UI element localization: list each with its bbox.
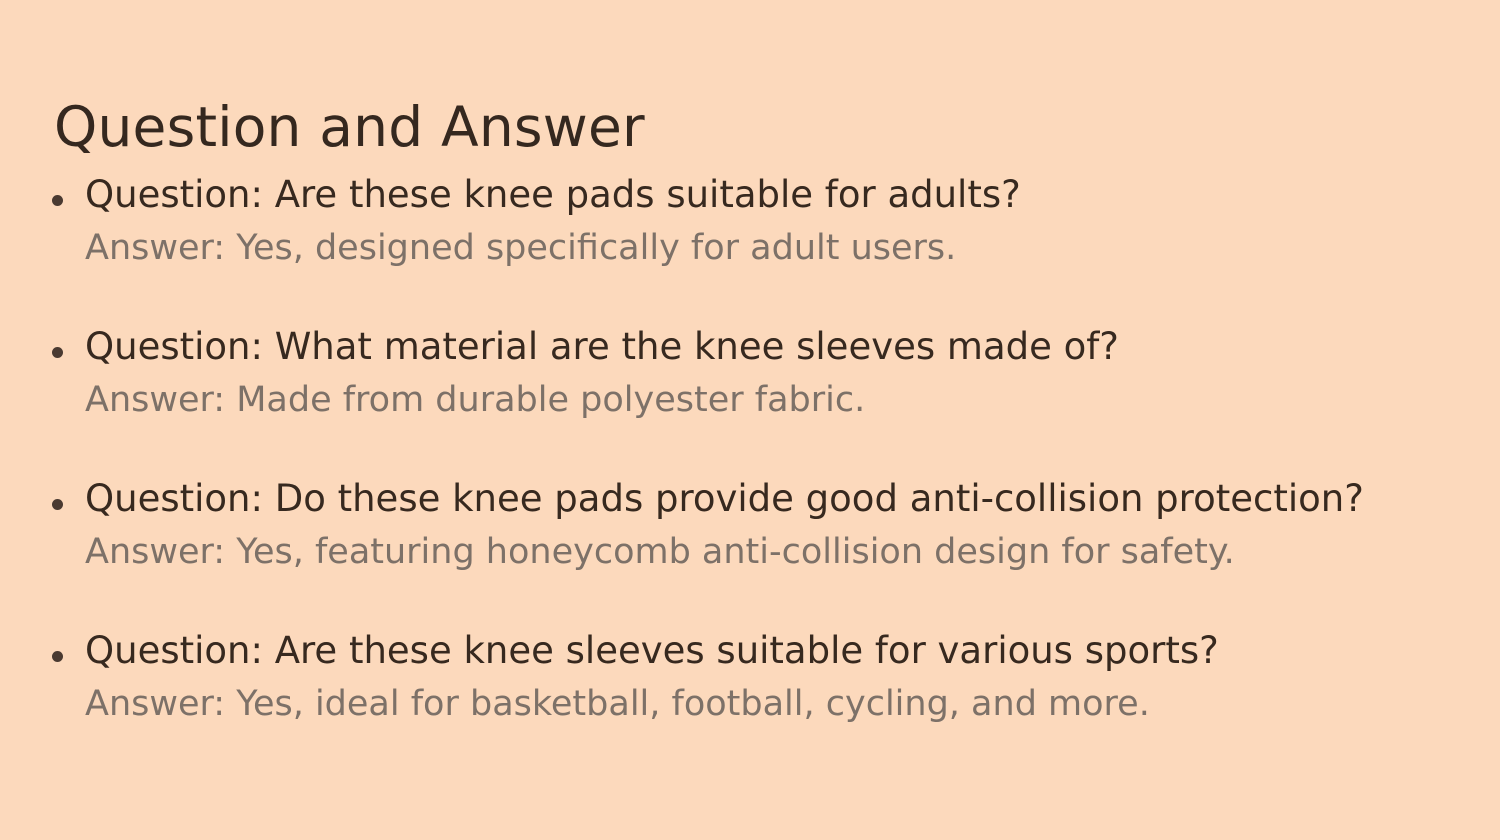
qa-answer-text: Answer: Made from durable polyester fabr… bbox=[85, 377, 865, 424]
list-item: Question: Are these knee pads suitable f… bbox=[0, 170, 1500, 322]
qa-answer-text: Answer: Yes, designed specifically for a… bbox=[85, 225, 956, 272]
list-item: Question: Are these knee sleeves suitabl… bbox=[0, 626, 1500, 778]
qa-question-text: Question: Do these knee pads provide goo… bbox=[85, 474, 1364, 524]
bullet-dot-icon bbox=[52, 347, 63, 358]
qa-list: Question: Are these knee pads suitable f… bbox=[0, 170, 1500, 778]
bullet-dot-icon bbox=[52, 651, 63, 662]
qa-slide: Question and Answer Question: Are these … bbox=[0, 0, 1500, 840]
page-title: Question and Answer bbox=[54, 99, 645, 157]
list-item: Question: What material are the knee sle… bbox=[0, 322, 1500, 474]
qa-answer-text: Answer: Yes, ideal for basketball, footb… bbox=[85, 681, 1150, 728]
bullet-dot-icon bbox=[52, 195, 63, 206]
list-item: Question: Do these knee pads provide goo… bbox=[0, 474, 1500, 626]
qa-question-text: Question: What material are the knee sle… bbox=[85, 322, 1119, 372]
qa-answer-text: Answer: Yes, featuring honeycomb anti-co… bbox=[85, 529, 1235, 576]
bullet-dot-icon bbox=[52, 499, 63, 510]
qa-question-text: Question: Are these knee sleeves suitabl… bbox=[85, 626, 1219, 676]
qa-question-text: Question: Are these knee pads suitable f… bbox=[85, 170, 1021, 220]
